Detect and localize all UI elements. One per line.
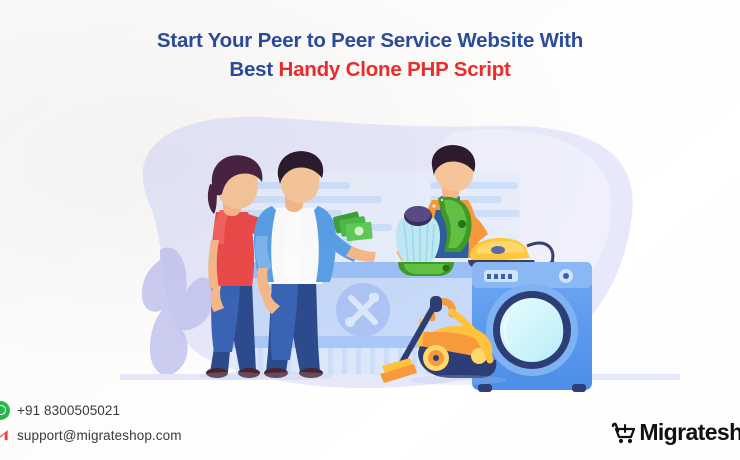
contact-block: +91 8300505021 support@migrateshop.com [0,398,182,448]
contact-phone-text: +91 8300505021 [17,403,120,418]
headline: Start Your Peer to Peer Service Website … [0,26,740,84]
whatsapp-icon [0,400,17,422]
brand-logo[interactable]: Migratesho [611,419,740,446]
headline-line-2-accent: Handy Clone PHP Script [278,58,510,81]
gmail-icon [0,425,17,447]
headline-line-2-prefix: Best [229,58,278,81]
contact-phone-row[interactable]: +91 8300505021 [0,398,182,423]
headline-line-2: Best Handy Clone PHP Script [0,55,740,84]
promo-banner: Start Your Peer to Peer Service Website … [0,0,740,460]
shopping-cart-icon [611,420,637,446]
tools-badge [336,283,390,337]
footer: +91 8300505021 support@migrateshop.com [0,398,740,460]
contact-email-row[interactable]: support@migrateshop.com [0,423,182,448]
headline-line-1: Start Your Peer to Peer Service Website … [0,26,740,55]
brand-logo-text: Migratesho [639,419,740,446]
contact-email-text: support@migrateshop.com [17,428,182,443]
